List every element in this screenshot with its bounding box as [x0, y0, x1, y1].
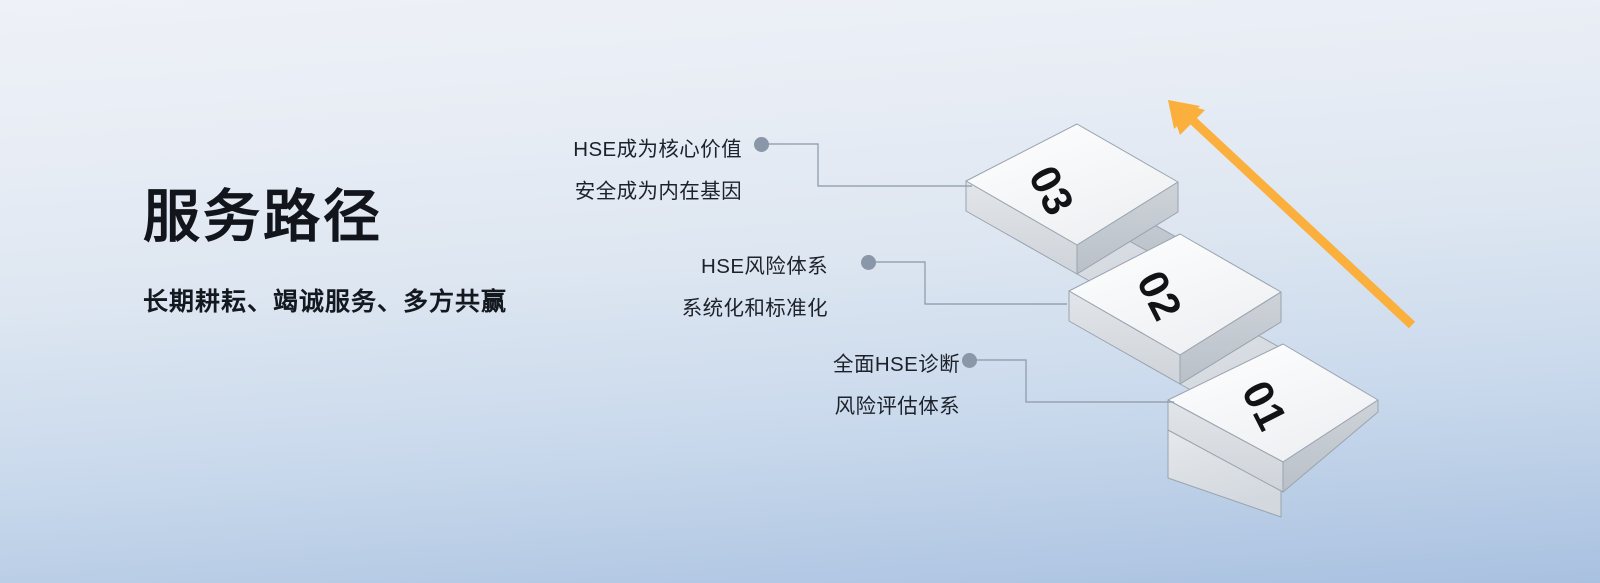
- growth-arrow-icon: [1168, 100, 1412, 325]
- slide-canvas: 服务路径 长期耕耘、竭诚服务、多方共赢: [0, 0, 1600, 583]
- growth-arrow: [0, 0, 1600, 583]
